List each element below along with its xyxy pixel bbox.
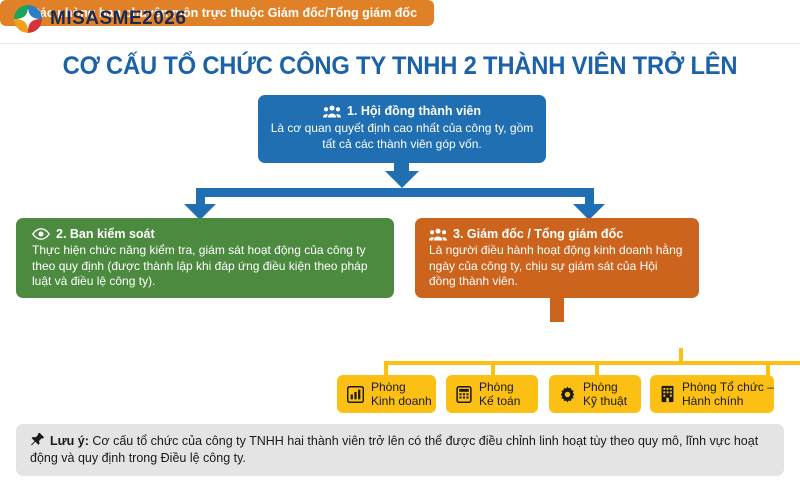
node-2-heading: 2. Ban kiểm soát (56, 226, 155, 242)
building-icon (660, 385, 675, 403)
bar-chart-icon (347, 386, 364, 403)
dept-connector-horizontal (384, 361, 800, 365)
node-3-body: Là người điều hành hoạt động kinh doanh … (429, 243, 687, 290)
node-3-heading: 3. Giám đốc / Tổng giám đốc (453, 226, 623, 242)
footer-note: Lưu ý: Cơ cấu tổ chức của công ty TNHH h… (16, 424, 784, 476)
brand-title: MISASME2026 (50, 8, 186, 30)
four-point-star-icon (17, 8, 39, 30)
connector-horizontal-bar (196, 188, 594, 197)
calculator-icon (456, 386, 472, 403)
dept-ke-toan-label: PhòngKế toán (479, 380, 520, 408)
connector-stub-to-departments-bar (550, 298, 564, 322)
dept-ky-thuat[interactable]: PhòngKỹ thuật (549, 375, 641, 413)
node-1-body: Là cơ quan quyết định cao nhất của công … (270, 121, 534, 152)
gear-icon (559, 386, 576, 403)
misa-circle-star-logo (14, 5, 42, 33)
node-1-heading: 1. Hội đồng thành viên (347, 103, 481, 119)
eye-icon (32, 228, 50, 240)
node-2-heading-row: 2. Ban kiểm soát (32, 226, 380, 242)
node-hoi-dong-thanh-vien[interactable]: 1. Hội đồng thành viên Là cơ quan quyết … (258, 95, 546, 163)
note-label: Lưu ý: (50, 434, 89, 448)
dept-ky-thuat-label: PhòngKỹ thuật (583, 380, 627, 408)
header-divider (0, 43, 800, 44)
node-ban-kiem-soat[interactable]: 2. Ban kiểm soát Thực hiện chức năng kiể… (16, 218, 394, 298)
node-2-body: Thực hiện chức năng kiểm tra, giám sát h… (32, 243, 380, 290)
users-group-icon (429, 228, 447, 241)
page-header: MISASME2026 (0, 0, 800, 44)
infographic-canvas: MISASME2026 CƠ CẤU TỔ CHỨC CÔNG TY TNHH … (0, 0, 800, 500)
note-text: Cơ cấu tổ chức của công ty TNHH hai thàn… (30, 434, 758, 465)
dept-to-chuc-hanh-chinh-label: Phòng Tổ chức –Hành chính (682, 380, 774, 408)
dept-to-chuc-hanh-chinh[interactable]: Phòng Tổ chức –Hành chính (650, 375, 774, 413)
node-giam-doc[interactable]: 3. Giám đốc / Tổng giám đốc Là người điề… (415, 218, 699, 298)
node-1-heading-row: 1. Hội đồng thành viên (270, 103, 534, 119)
users-group-icon (323, 105, 341, 118)
dept-kinh-doanh-label: PhòngKinh doanh (371, 380, 432, 408)
dept-connector-vertical (679, 348, 683, 362)
dept-ke-toan[interactable]: PhòngKế toán (446, 375, 538, 413)
page-title: CƠ CẤU TỔ CHỨC CÔNG TY TNHH 2 THÀNH VIÊN… (20, 52, 780, 81)
node-3-heading-row: 3. Giám đốc / Tổng giám đốc (429, 226, 687, 242)
dept-kinh-doanh[interactable]: PhòngKinh doanh (337, 375, 436, 413)
pushpin-icon (30, 432, 45, 447)
connector-arrow-center (385, 171, 419, 188)
